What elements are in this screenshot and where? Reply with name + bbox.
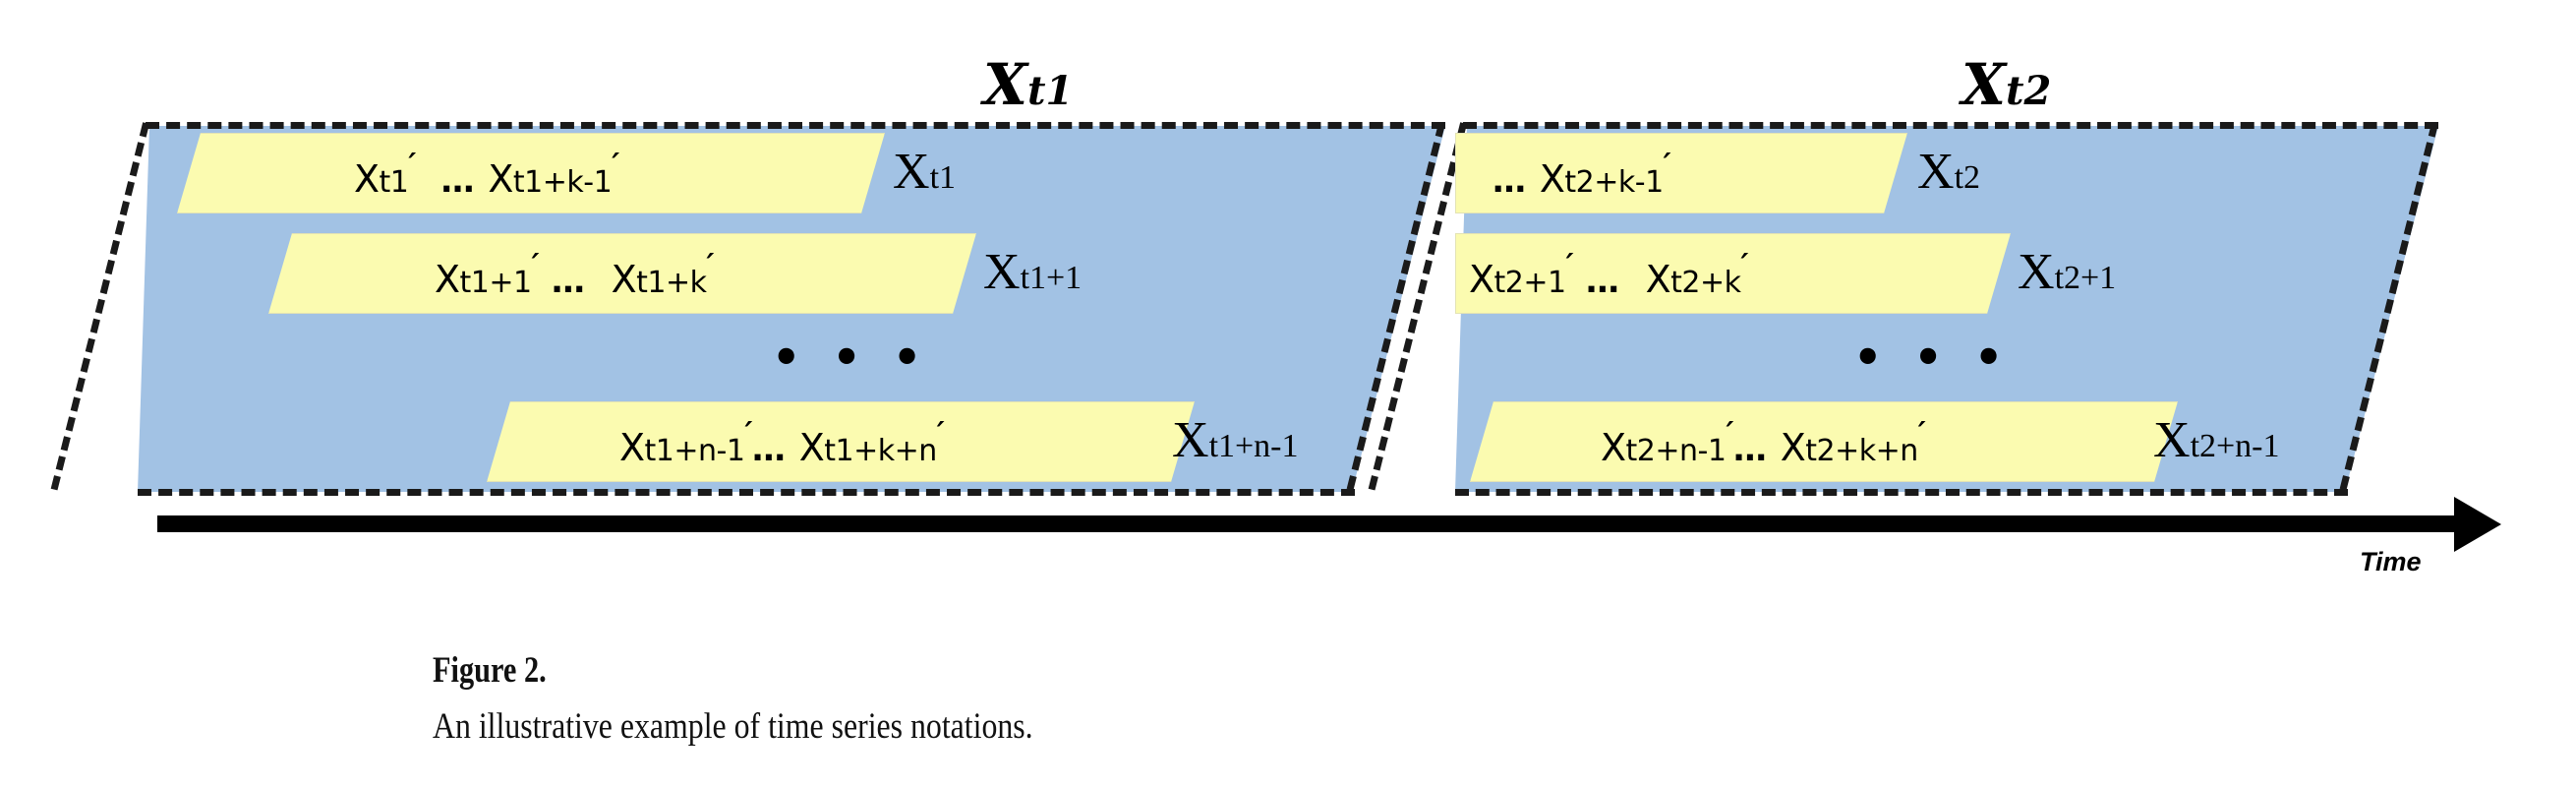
slab-prime2: ′: [937, 416, 944, 451]
slab-ellipsis: …: [441, 161, 476, 201]
slab-prime1: ′: [532, 248, 539, 282]
blue-region-t2-top-dash: [1463, 122, 2438, 129]
window-slab-text-t1-row3: Xt1+n-1′… Xt1+k+n′: [619, 416, 944, 469]
window-slab-text-t2-row2: Xt2+1′ … Xt2+k′: [1469, 248, 1748, 301]
blue-region-t1-top-dash: [146, 122, 1445, 129]
window-slab-text-t2-row3: Xt2+n-1′… Xt2+k+n′: [1601, 416, 1925, 469]
slab-sub1: t1: [380, 165, 409, 200]
calx-symbol: X: [1961, 51, 2006, 118]
row-label-symbol: X: [893, 144, 930, 200]
calx-subscript: t1: [1027, 68, 1073, 114]
slab-ellipsis: …: [1493, 161, 1527, 201]
slab-prime1: ′: [1726, 416, 1732, 451]
time-axis-line: [157, 515, 2466, 532]
time-axis-label: Time: [2360, 547, 2422, 577]
slab-x2: X: [1540, 157, 1565, 201]
blue-region-t2-left-dash: [1369, 122, 1467, 490]
slab-x1: X: [1601, 426, 1626, 469]
slab-sub2: t1+k: [636, 266, 706, 300]
slab-sub2: t1+k+n: [824, 434, 937, 468]
slab-sub1: t2+n-1: [1626, 434, 1727, 468]
window-slab-text-t1-row2: Xt1+1′ … Xt1+k′: [435, 248, 714, 301]
slab-prime1: ′: [408, 148, 415, 182]
calx-subscript: t2: [2006, 68, 2051, 114]
row-label-t2-row2: Xt2+1: [2018, 243, 2116, 301]
row-label-t1-row1: Xt1: [893, 143, 956, 201]
slab-prime1: ′: [1566, 248, 1573, 282]
row-label-subscript: t1+n-1: [1209, 428, 1299, 464]
slab-x2: X: [488, 157, 513, 201]
caption-title: Figure 2.: [433, 649, 1005, 692]
slab-sub1: t1+n-1: [645, 434, 745, 468]
slab-prime2: ′: [1664, 148, 1670, 182]
blue-region-t1-bottom-dash: [138, 489, 1355, 496]
slab-sub2: t2+k+n: [1805, 434, 1918, 468]
slab-x2: X: [1781, 426, 1806, 469]
row-label-subscript: t2+n-1: [2191, 428, 2280, 464]
figure-caption: Figure 2. An illustrative example of tim…: [433, 649, 1131, 748]
row-label-t2-row3: Xt2+n-1: [2153, 411, 2280, 469]
slab-prime2: ′: [612, 148, 618, 182]
window-slab-text-t1-row1: Xt1′ … Xt1+k-1′: [354, 148, 619, 201]
slab-prime1: ′: [744, 416, 751, 451]
row-label-subscript: t1: [930, 159, 956, 196]
slab-ellipsis: …: [1733, 430, 1768, 469]
blue-region-t1-left-dash: [51, 122, 149, 490]
window-slab-text-t2-row1: … Xt2+k-1′: [1493, 148, 1670, 201]
slab-prime2: ′: [706, 248, 713, 282]
slab-x1: X: [619, 426, 645, 469]
row-label-t1-row2: Xt1+1: [983, 243, 1082, 301]
row-label-t1-row3: Xt1+n-1: [1172, 411, 1299, 469]
calx-symbol: X: [983, 51, 1027, 118]
time-axis-arrowhead-icon: [2454, 497, 2501, 552]
slab-sub1: t1+1: [460, 266, 532, 300]
row-label-subscript: t2: [1955, 159, 1980, 196]
slab-x1: X: [354, 157, 380, 201]
figure-canvas: Xt1 Xt1′ … Xt1+k-1′ Xt1 Xt1+1′ … Xt1+k′ …: [0, 0, 2576, 787]
slab-sub2: t2+k: [1670, 266, 1740, 300]
slab-sub2: t2+k-1: [1564, 165, 1663, 200]
slab-x2: X: [1646, 258, 1671, 301]
slab-sub1: t2+1: [1494, 266, 1566, 300]
slab-sub2: t1+k-1: [513, 165, 612, 200]
slab-ellipsis: …: [1586, 262, 1620, 301]
row-label-symbol: X: [1172, 412, 1209, 468]
row-ellipsis-t1: • • •: [772, 334, 929, 380]
row-label-symbol: X: [1917, 144, 1955, 200]
group-header-calx-t2: Xt2: [1961, 51, 2051, 118]
series-group-t1: Xt1 Xt1′ … Xt1+k-1′ Xt1 Xt1+1′ … Xt1+k′ …: [0, 0, 1317, 551]
series-group-t2: Xt2 … Xt2+k-1′ Xt2 Xt2+1′ … Xt2+k′ Xt2+1…: [1308, 0, 2576, 551]
caption-text: An illustrative example of time series n…: [433, 705, 1033, 748]
slab-ellipsis: …: [752, 430, 787, 469]
blue-region-t2-bottom-dash: [1455, 489, 2348, 496]
slab-x2: X: [799, 426, 825, 469]
slab-x1: X: [1469, 258, 1494, 301]
group-header-calx-t1: Xt1: [983, 51, 1073, 118]
row-label-subscript: t2+1: [2055, 260, 2117, 296]
row-label-subscript: t1+1: [1021, 260, 1083, 296]
row-ellipsis-t2: • • •: [1853, 334, 2011, 380]
row-label-symbol: X: [2018, 244, 2055, 300]
slab-ellipsis: …: [552, 262, 586, 301]
row-label-symbol: X: [2153, 412, 2191, 468]
row-label-t2-row1: Xt2: [1917, 143, 1980, 201]
slab-prime2: ′: [1740, 248, 1747, 282]
slab-prime2: ′: [1918, 416, 1925, 451]
slab-x2: X: [612, 258, 637, 301]
slab-x1: X: [435, 258, 460, 301]
row-label-symbol: X: [983, 244, 1021, 300]
